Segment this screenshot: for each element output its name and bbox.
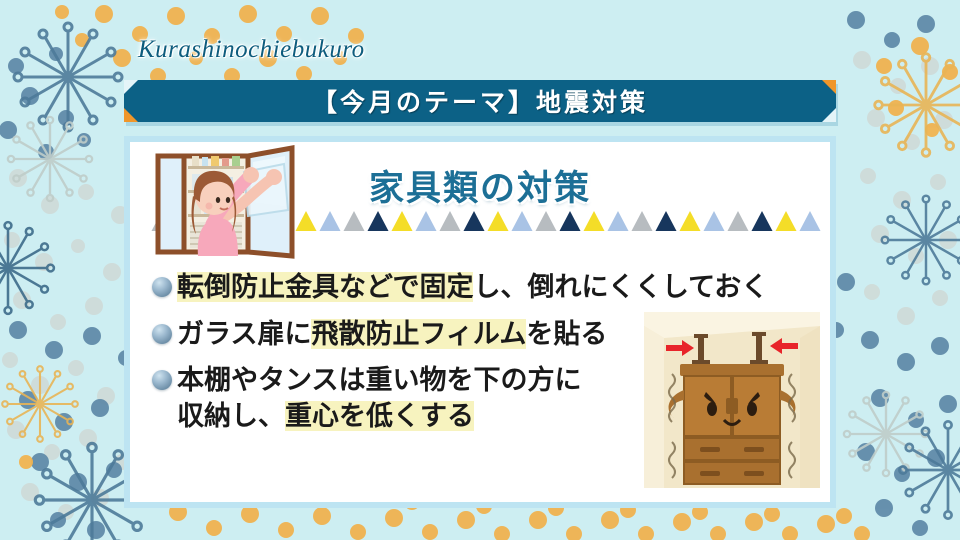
divider-triangle [776, 211, 797, 231]
text-line: 本棚やタンスは重い物を下の方に [177, 365, 581, 395]
wardrobe-braced-icon [644, 312, 820, 488]
plain-phrase: し、倒れにくくしておく [473, 272, 768, 302]
divider-triangle [440, 211, 461, 231]
plain-phrase: 収納し、 [177, 401, 285, 431]
highlighted-phrase: 飛散防止フィルム [311, 319, 526, 349]
list-item: 転倒防止金具などで固定し、倒れにくくしておく [152, 270, 818, 306]
list-item-text: 転倒防止金具などで固定し、倒れにくくしておく [177, 270, 768, 306]
list-item-text: ガラス扉に飛散防止フィルムを貼る [177, 317, 607, 353]
highlighted-phrase: 重心を低くする [285, 401, 474, 431]
content-panel-inner: 家具類の対策 [130, 142, 830, 502]
text-line: ガラス扉に飛散防止フィルムを貼る [177, 319, 607, 349]
divider-triangle [752, 211, 773, 231]
divider-triangle [728, 211, 749, 231]
list-item-text: 本棚やタンスは重い物を下の方に収納し、重心を低くする [177, 363, 581, 434]
text-line: 転倒防止金具などで固定し、倒れにくくしておく [177, 272, 768, 302]
divider-triangle [344, 211, 365, 231]
brand-title: Kurashinochiebukuro [138, 36, 365, 64]
plain-phrase: ガラス扉に [177, 319, 311, 349]
divider-triangle [464, 211, 485, 231]
banner-body: 【今月のテーマ】地震対策 [124, 80, 836, 122]
bullet-dot-icon [152, 370, 172, 390]
divider-triangle [632, 211, 653, 231]
banner-label: 【今月のテーマ】地震対策 [124, 80, 836, 122]
divider-triangle [392, 211, 413, 231]
divider-triangle [320, 211, 341, 231]
divider-triangle [608, 211, 629, 231]
divider-triangle [512, 211, 533, 231]
divider-triangle [704, 211, 725, 231]
divider-triangle [680, 211, 701, 231]
highlighted-phrase: 転倒防止金具などで固定 [177, 272, 473, 302]
divider-triangle [368, 211, 389, 231]
divider-triangle [584, 211, 605, 231]
divider-triangle [416, 211, 437, 231]
divider-triangle [488, 211, 509, 231]
content-panel: 家具類の対策 [124, 136, 836, 508]
divider-triangle [800, 211, 821, 231]
text-line: 収納し、重心を低くする [177, 399, 581, 435]
divider-triangle [536, 211, 557, 231]
theme-banner: 【今月のテーマ】地震対策 [124, 80, 836, 122]
bullet-dot-icon [152, 324, 172, 344]
plain-phrase: 本棚やタンスは重い物を下の方に [177, 365, 581, 395]
divider-triangle [656, 211, 677, 231]
woman-applying-film-icon [152, 144, 308, 262]
plain-phrase: を貼る [526, 319, 607, 349]
divider-triangle [560, 211, 581, 231]
bullet-dot-icon [152, 277, 172, 297]
